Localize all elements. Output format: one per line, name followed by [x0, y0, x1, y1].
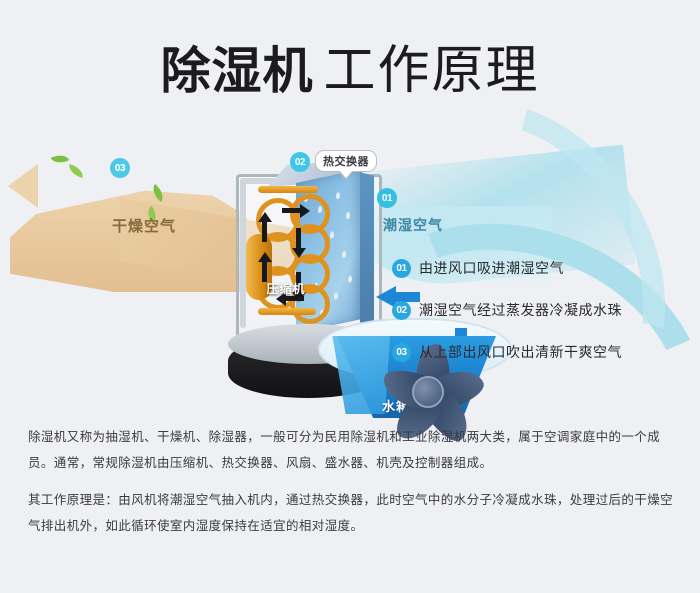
step-label: 由进风口吸进潮湿空气 — [419, 258, 564, 278]
diagram-badge-02: 02 — [290, 152, 310, 172]
leaf-icon — [67, 164, 85, 178]
list-item: 03 从上部出风口吹出清新干爽空气 — [392, 342, 692, 362]
step-badge: 03 — [392, 343, 411, 362]
flow-arrow-up — [262, 260, 267, 282]
steps-list: 01 由进风口吸进潮湿空气 02 潮湿空气经过蒸发器冷凝成水珠 03 从上部出风… — [392, 258, 692, 384]
flow-arrow-down — [296, 228, 301, 250]
flow-arrow-up-head-icon — [258, 212, 272, 222]
list-item: 01 由进风口吸进潮湿空气 — [392, 258, 692, 278]
step-badge: 01 — [392, 259, 411, 278]
moist-air-label: 潮湿空气 — [383, 215, 443, 235]
description-paragraph-1: 除湿机又称为抽湿机、干燥机、除湿器，一般可分为民用除湿机和工业除湿机两大类，属于… — [28, 424, 676, 476]
flow-arrow-right-head-icon — [300, 204, 310, 218]
step-label: 潮湿空气经过蒸发器冷凝成水珠 — [419, 300, 622, 320]
description-block-2: 其工作原理是：由风机将潮湿空气抽入机内，通过热交换器，此时空气中的水分子冷凝成水… — [28, 487, 676, 539]
flow-arrow-up — [262, 220, 267, 242]
coil-segment — [258, 186, 318, 193]
flow-arrow-down-head-icon — [292, 248, 306, 258]
heat-exchanger-callout: 热交换器 — [315, 150, 377, 172]
step-label: 从上部出风口吹出清新干爽空气 — [419, 342, 622, 362]
dry-air-label: 干燥空气 — [112, 215, 176, 236]
step-badge: 02 — [392, 301, 411, 320]
leaf-icon — [51, 151, 70, 167]
flow-arrow-up-head-icon — [258, 252, 272, 262]
diagram-badge-03: 03 — [110, 158, 130, 178]
diagram-badge-01: 01 — [377, 188, 397, 208]
description-block-1: 除湿机又称为抽湿机、干燥机、除湿器，一般可分为民用除湿机和工业除湿机两大类，属于… — [28, 424, 676, 476]
coil-segment — [258, 308, 316, 315]
page-title: 除湿机工作原理 — [0, 28, 700, 103]
flow-arrow-right — [282, 208, 302, 213]
evaporator-side — [360, 172, 374, 325]
page-root: 除湿机工作原理 — [0, 0, 700, 566]
description-paragraph-2: 其工作原理是：由风机将潮湿空气抽入机内，通过热交换器，此时空气中的水分子冷凝成水… — [28, 487, 676, 539]
compressor-label: 压缩机 — [246, 280, 326, 297]
dry-air-arrow-head-icon — [8, 164, 38, 208]
list-item: 02 潮湿空气经过蒸发器冷凝成水珠 — [392, 300, 692, 320]
page-title-main: 除湿机 — [160, 42, 313, 100]
page-title-sub: 工作原理 — [323, 42, 539, 100]
